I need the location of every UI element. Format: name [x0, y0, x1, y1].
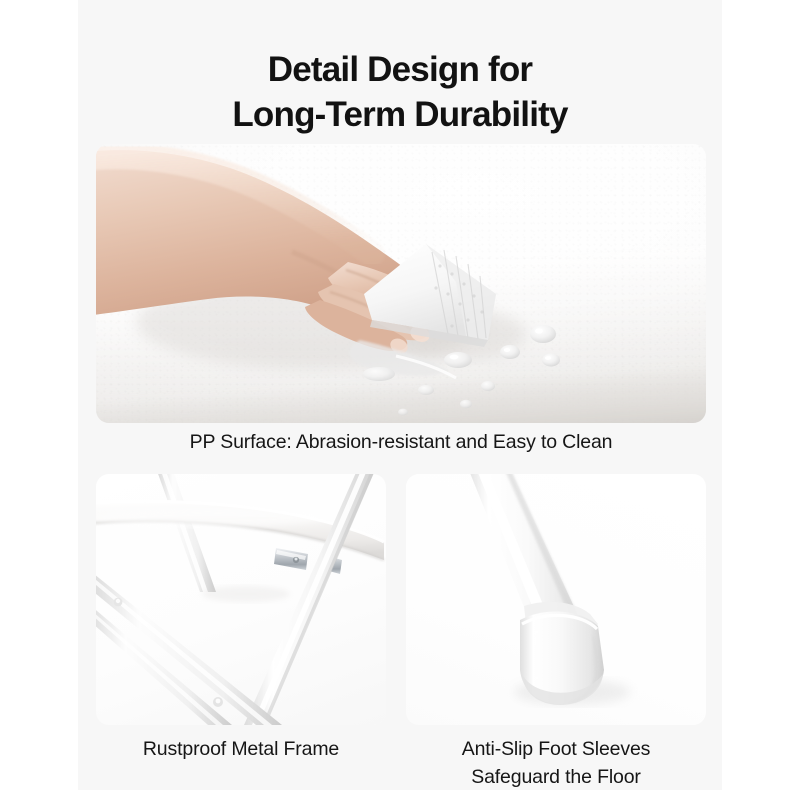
photo-card-metal-frame: [96, 474, 386, 725]
caption-foot-sleeve-line-2: Safeguard the Floor: [406, 764, 706, 792]
metal-frame-photo: [96, 474, 386, 725]
page-title-line-2: Long-Term Durability: [78, 93, 722, 138]
caption-pp-surface-line-1: PP Surface: Abrasion-resistant and Easy …: [96, 429, 706, 457]
caption-foot-sleeve: Anti-Slip Foot Sleeves Safeguard the Flo…: [406, 736, 706, 791]
photo-card-foot-sleeve: [406, 474, 706, 725]
foot-sleeve-illustration: [406, 474, 706, 725]
photo-card-pp-surface: [96, 144, 706, 423]
foot-sleeve-photo: [406, 474, 706, 725]
caption-metal-frame: Rustproof Metal Frame: [96, 736, 386, 764]
foot-sleeve-cap: [520, 602, 604, 705]
pp-surface-photo: [96, 144, 706, 423]
page-title: Detail Design for Long-Term Durability: [78, 48, 722, 138]
caption-metal-frame-line-1: Rustproof Metal Frame: [96, 736, 386, 764]
infographic-page: Detail Design for Long-Term Durability: [0, 0, 800, 800]
page-title-line-1: Detail Design for: [78, 48, 722, 93]
metal-frame-illustration: [96, 474, 386, 725]
frame-lower-brace: [96, 600, 232, 725]
caption-pp-surface: PP Surface: Abrasion-resistant and Easy …: [96, 429, 706, 457]
frame-rear-leg: [156, 474, 216, 592]
caption-foot-sleeve-line-1: Anti-Slip Foot Sleeves: [406, 736, 706, 764]
pp-surface-illustration: [96, 144, 706, 423]
